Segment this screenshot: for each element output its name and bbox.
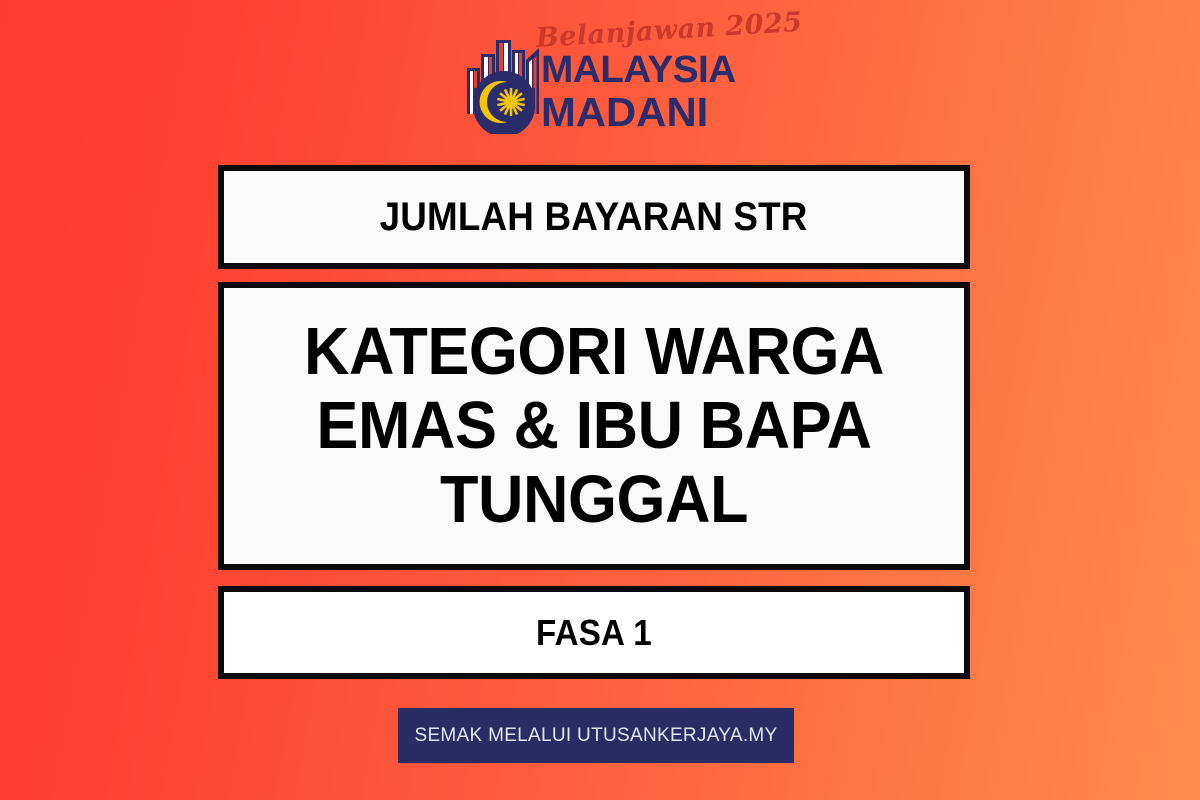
wordmark-line-madani: MADANI [541,91,751,133]
malaysia-madani-emblem-icon [463,30,545,134]
malaysia-madani-wordmark: MALAYSIA MADANI [541,49,747,137]
phase-card: FASA 1 [218,586,970,679]
category-card: KATEGORI WARGA EMAS & IBU BAPA TUNGGAL [218,282,970,570]
malaysia-madani-logo: Belanjawan 2025 MALAYSIA MADANI [463,22,743,137]
payment-title-text: JUMLAH BAYARAN STR [380,194,808,240]
category-text: KATEGORI WARGA EMAS & IBU BAPA TUNGGAL [246,315,942,537]
source-banner-text: SEMAK MELALUI UTUSANKERJAYA.MY [414,725,777,747]
poster-canvas: Belanjawan 2025 MALAYSIA MADANI JUMLAH B… [0,0,1200,800]
payment-title-card: JUMLAH BAYARAN STR [218,165,970,269]
wordmark-line-malaysia: MALAYSIA [541,49,751,91]
source-banner[interactable]: SEMAK MELALUI UTUSANKERJAYA.MY [398,708,794,763]
phase-text: FASA 1 [536,612,652,654]
